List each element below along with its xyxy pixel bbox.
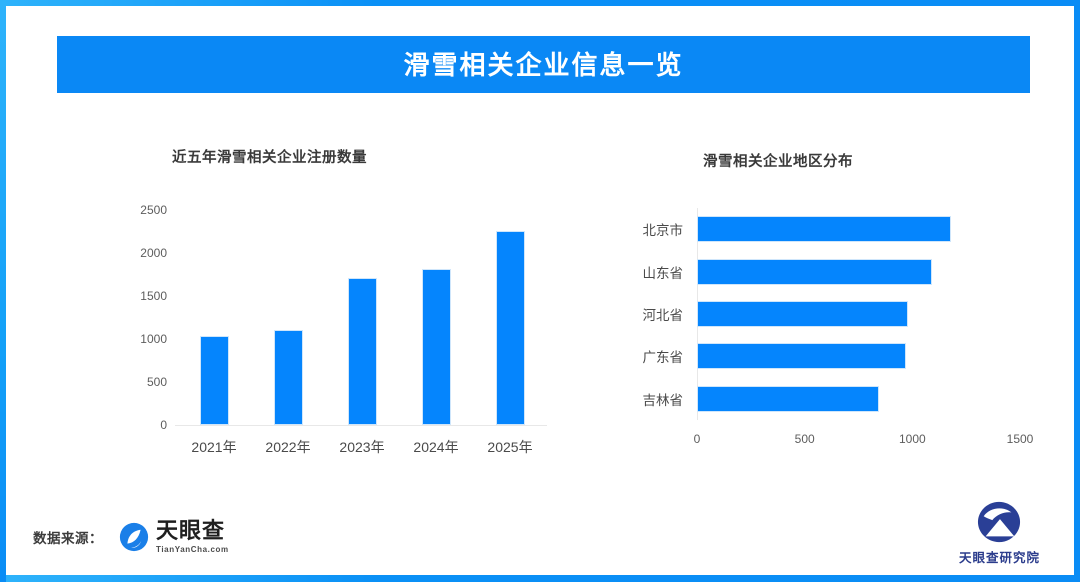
header-banner: 滑雪相关企业信息一览: [57, 36, 1030, 93]
bar-track: [697, 386, 1020, 412]
tianyancha-wordmark: 天眼查 TianYanCha.com: [156, 520, 229, 554]
bar-2024年: [422, 269, 451, 425]
bar-山东省: [697, 259, 932, 285]
bar-series-regions: 北京市山东省河北省广东省吉林省: [620, 208, 1020, 420]
data-source-label: 数据来源：: [33, 527, 103, 547]
bar-2022年: [274, 330, 303, 425]
category-label: 广东省: [620, 346, 697, 366]
x-axis-tick-label: 2025年: [473, 437, 547, 457]
bar-row: 广东省: [620, 343, 1020, 369]
bar-吉林省: [697, 386, 879, 412]
tianyancha-eye-icon: [119, 522, 149, 552]
page-border-left: [0, 0, 6, 582]
x-axis-tick-label: 2021年: [177, 437, 251, 457]
x-axis-tick-label: 1000: [899, 432, 926, 446]
y-axis-tick-label: 1500: [140, 289, 167, 303]
bar-2025年: [496, 231, 525, 425]
x-axis-tick-label: 2024年: [399, 437, 473, 457]
bar-track: [697, 216, 1020, 242]
category-label: 北京市: [620, 219, 697, 239]
institute-logo: 天眼查研究院: [959, 500, 1040, 566]
x-axis-ticks: 050010001500: [697, 420, 1020, 450]
x-axis-tick-label: 2023年: [325, 437, 399, 457]
category-label: 山东省: [620, 262, 697, 282]
bar-row: 吉林省: [620, 386, 1020, 412]
bar-2023年: [348, 278, 377, 425]
y-axis-tick-label: 0: [160, 418, 167, 432]
y-axis-tick-label: 1000: [140, 332, 167, 346]
chart-title-registrations: 近五年滑雪相关企业注册数量: [172, 146, 557, 167]
page-title: 滑雪相关企业信息一览: [403, 52, 683, 78]
bar-series-registrations: [177, 210, 547, 425]
brand-name-cn: 天眼查: [156, 520, 229, 542]
bar-track: [697, 301, 1020, 327]
category-label: 河北省: [620, 304, 697, 324]
chart-title-regions: 滑雪相关企业地区分布: [703, 150, 1040, 171]
page-border-right: [1074, 0, 1080, 582]
x-axis-tick-label: 1500: [1007, 432, 1034, 446]
x-axis-tick-label: 500: [795, 432, 815, 446]
chart-panel-registrations: 近五年滑雪相关企业注册数量 05001000150020002500 2021年…: [57, 130, 557, 490]
bar-column: [325, 210, 399, 425]
bar-row: 河北省: [620, 301, 1020, 327]
y-axis-tick-label: 2500: [140, 203, 167, 217]
horizontal-bar-chart: 北京市山东省河北省广东省吉林省 050010001500: [620, 208, 1020, 468]
institute-name: 天眼查研究院: [959, 547, 1040, 566]
x-axis-labels: 2021年2022年2023年2024年2025年: [177, 437, 547, 457]
vertical-bar-chart: 05001000150020002500 2021年2022年2023年2024…: [117, 205, 547, 465]
page-border-top: [0, 0, 1080, 6]
bar-2021年: [200, 336, 229, 425]
bar-column: [251, 210, 325, 425]
infographic-page: 滑雪相关企业信息一览 近五年滑雪相关企业注册数量 050010001500200…: [0, 0, 1080, 582]
bar-广东省: [697, 343, 906, 369]
bar-河北省: [697, 301, 908, 327]
bar-北京市: [697, 216, 951, 242]
x-axis-tick-label: 2022年: [251, 437, 325, 457]
x-axis-tick-label: 0: [694, 432, 701, 446]
bar-column: [473, 210, 547, 425]
chart-panel-regions: 滑雪相关企业地区分布 北京市山东省河北省广东省吉林省 050010001500: [600, 130, 1040, 490]
tianyancha-logo: 天眼查 TianYanCha.com: [119, 520, 229, 554]
brand-name-en: TianYanCha.com: [156, 545, 229, 554]
plot-area-vertical: 05001000150020002500: [177, 210, 547, 425]
bar-track: [697, 343, 1020, 369]
x-axis-line: [175, 425, 547, 426]
bar-column: [177, 210, 251, 425]
y-axis-tick-label: 2000: [140, 246, 167, 260]
data-source: 数据来源： 天眼查 TianYanCha.com: [33, 520, 229, 554]
bar-track: [697, 259, 1020, 285]
y-axis-tick-label: 500: [147, 375, 167, 389]
category-label: 吉林省: [620, 389, 697, 409]
page-border-bottom: [0, 575, 1080, 582]
institute-emblem-icon: [975, 500, 1023, 544]
bar-row: 山东省: [620, 259, 1020, 285]
bar-column: [399, 210, 473, 425]
bar-row: 北京市: [620, 216, 1020, 242]
